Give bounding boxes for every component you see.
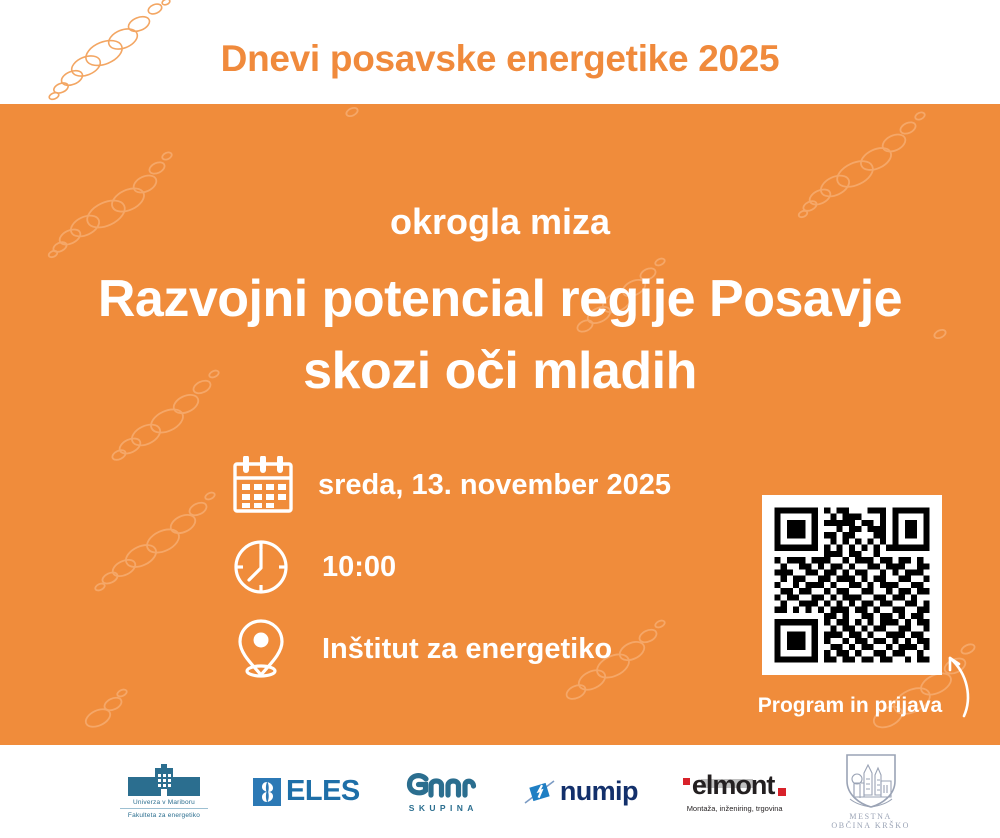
elmont-red-square-right: [778, 788, 786, 796]
gen-skupina-logo: SKUPINA: [405, 770, 478, 813]
um-caption-primary: Univerza v Mariboru: [133, 799, 195, 806]
elmont-red-square-left: [683, 778, 690, 785]
calendar-icon: [232, 456, 298, 514]
event-subtitle: okrogla miza: [0, 204, 1000, 240]
elmont-logo: elmont Montaža, inženiring, trgovina: [683, 770, 787, 813]
page-title: Dnevi posavske energetike 2025: [0, 40, 1000, 77]
um-caption-secondary: Fakulteta za energetiko: [128, 812, 200, 819]
qr-caption: Program in prijava: [700, 694, 1000, 718]
elmont-wordmark: elmont: [692, 770, 775, 801]
university-of-maribor-logo: Univerza v Mariboru Fakulteta za energet…: [120, 764, 208, 819]
gen-mark-icon: [405, 770, 477, 800]
headline-line-1: Razvojni potencial regije Posavje: [0, 264, 1000, 336]
detail-row-time: 10:00: [232, 526, 752, 608]
qr-code[interactable]: [762, 495, 942, 675]
elmont-tagline: Montaža, inženiring, trgovina: [687, 804, 783, 813]
poster-body: okrogla miza Razvojni potencial regije P…: [0, 104, 1000, 745]
detail-row-location: Inštitut za energetiko: [232, 608, 752, 690]
krsko-caption-secondary: OBČINA KRŠKO: [831, 821, 910, 830]
krsko-caption-primary: MESTNA: [849, 812, 892, 821]
detail-row-date: sreda, 13. november 2025: [232, 444, 752, 526]
qr-code-canvas[interactable]: [762, 495, 942, 675]
mestna-obcina-krsko-logo: MESTNA OBČINA KRŠKO: [831, 753, 910, 830]
location-pin-icon: [232, 617, 298, 681]
numip-mark-icon: [523, 778, 557, 806]
um-divider: [120, 808, 208, 809]
detail-date-label: sreda, 13. november 2025: [298, 469, 671, 502]
detail-location-label: Inštitut za energetiko: [298, 633, 612, 666]
numip-wordmark: numip: [560, 776, 638, 807]
poster-footer: Univerza v Mariboru Fakulteta za energet…: [0, 745, 1000, 838]
event-poster: Dnevi posavske energetike 2025: [0, 0, 1000, 838]
clock-icon: [232, 538, 298, 596]
detail-time-label: 10:00: [298, 551, 396, 584]
eles-mark-icon: [253, 778, 281, 806]
gen-caption: SKUPINA: [405, 803, 478, 813]
eles-wordmark: ELES: [286, 775, 360, 808]
sponsor-logo-strip: Univerza v Mariboru Fakulteta za energet…: [120, 745, 910, 838]
eles-logo: ELES: [253, 775, 360, 808]
headline-line-2: skozi oči mladih: [0, 336, 1000, 408]
numip-logo: numip: [523, 776, 638, 807]
event-details-list: sreda, 13. november 2025: [232, 444, 752, 690]
poster-header: Dnevi posavske energetike 2025: [0, 0, 1000, 104]
event-headline: Razvojni potencial regije Posavje skozi …: [0, 264, 1000, 408]
um-building-icon: [126, 764, 202, 798]
krsko-coat-of-arms-icon: [842, 753, 900, 809]
